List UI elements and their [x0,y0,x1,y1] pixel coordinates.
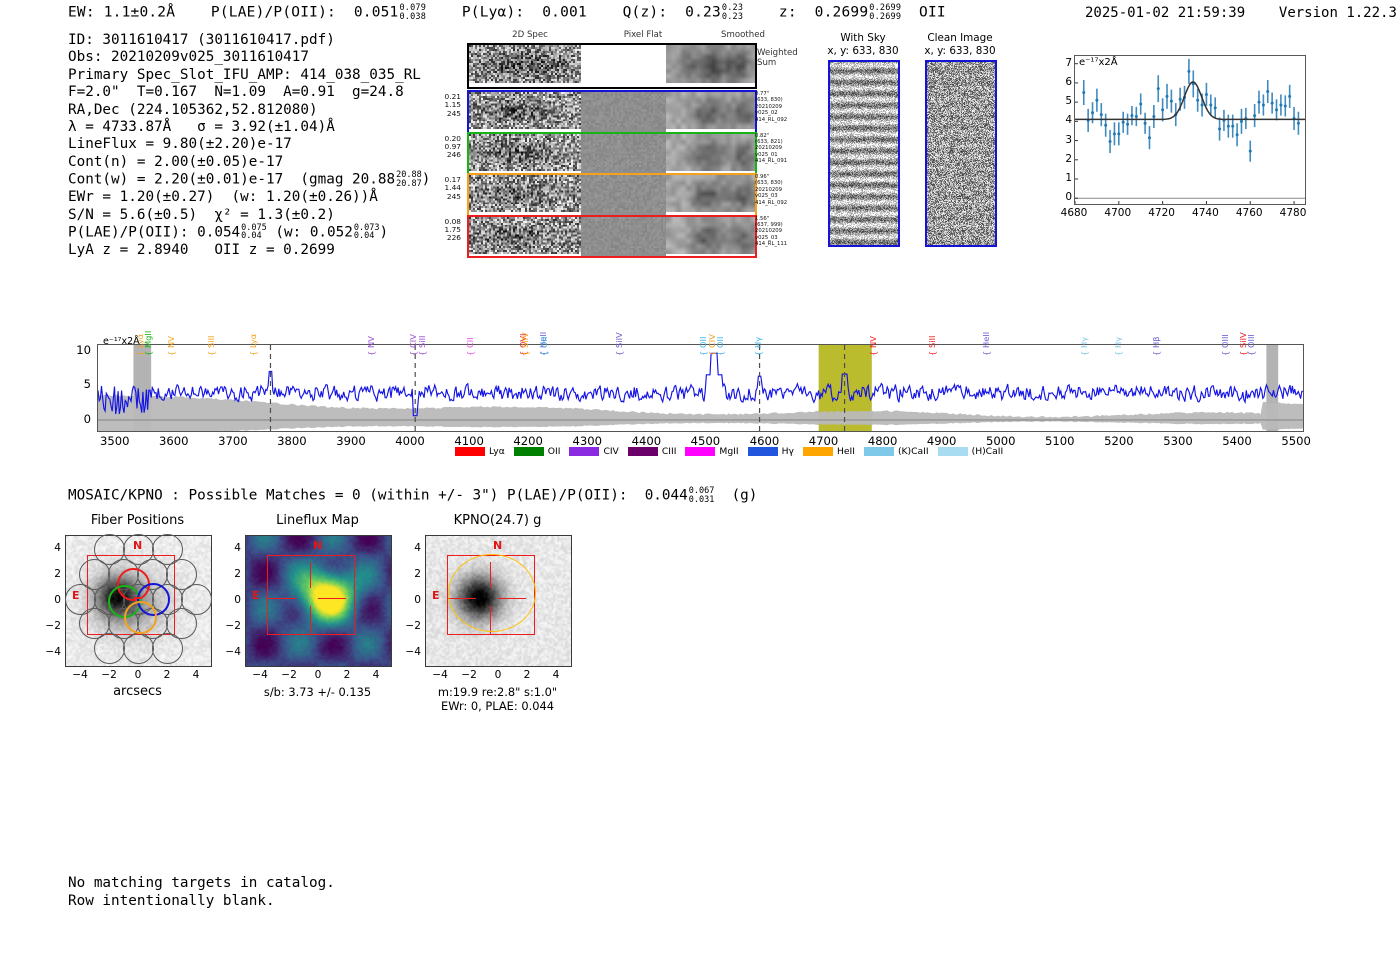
fiber-right-meta-3: 1.56"(637, 999)20210209v025_03414_RL_111 [755,216,787,248]
crosshair-arm [310,606,311,634]
mosaic-plae-range: 0.0670.031 [689,487,715,504]
legend-swatch [938,447,968,456]
timestamp: 2025-01-02 21:59:39 [1085,5,1245,21]
kpno-ellipse [448,554,536,632]
spectrum-line-brace: { [1151,351,1161,356]
spectrum-annotation: e⁻¹⁷x2Å [103,336,140,347]
legend-item-(H)CaII: (H)CaII [938,446,1004,457]
line-fit-plot-area: e⁻¹⁷x2Å [1074,55,1306,205]
cutout-image-clean [925,60,997,247]
aperture-ytick: 2 [401,568,421,580]
linefit-ytick: 4 [1065,114,1072,126]
spectrum-line-label-NV: NV [868,336,878,348]
fiber-2d-spec-3 [469,217,581,257]
aperture-xtick: −2 [461,669,477,681]
compass-east-2: E [432,589,440,602]
aperture-caption2-2: EWr: 0, PLAE: 0.044 [390,699,605,713]
weighted-sum-strip [467,43,757,89]
linefit-xtick: 4700 [1104,207,1131,219]
mosaic-plae-band: (g) [732,488,758,504]
legend-item-OII: OII [514,446,561,457]
legend-item-MgII: MgII [685,446,738,457]
fiber-circle [94,633,125,664]
header-z-label: z: [779,5,797,21]
info-params: F=2.0" T=0.167 N=1.09 A=0.91 g=24.8 [68,84,430,101]
legend-swatch [628,447,658,456]
legend-item-CIV: CIV [569,446,618,457]
legend-swatch [864,447,894,456]
spectrum-plot-area [97,344,1304,432]
fiber-right-meta-0: 0.77"(633, 830)20210209v025_02414_RL_092 [755,91,787,123]
spectrum-line-brace: { [1113,351,1123,356]
aperture-ytick: 4 [41,542,61,554]
legend-label: Hγ [782,446,794,457]
fiber-2d-spec-1 [469,134,581,174]
legend-swatch [748,447,778,456]
linefit-ytick: 0 [1065,191,1072,203]
spectrum-line-label-SiII: SiII [206,336,216,348]
spectrum-legend: LyαOIICIVCIIIMgIIHγHeII(K)CaII(H)CaII [455,446,1003,457]
footer-line-1: No matching targets in catalog. [68,874,335,892]
line-fit-chart: e⁻¹⁷x2Å 01234567468047004720474047604780 [1032,47,1320,237]
fiber-2d-spec-2 [469,175,581,215]
spectrum-line-brace: { [539,351,549,356]
target-marker [134,597,141,599]
header-summary: EW: 1.1±0.2Å P(LAE)/P(OII): 0.0510.0790.… [68,4,946,21]
info-radec: RA,Dec (224.105362,52.812080) [68,102,430,119]
aperture-xtick: −4 [252,669,268,681]
weighted-smoothed [666,45,755,87]
mosaic-prefix: MOSAIC/KPNO : Possible Matches = 0 (with… [68,488,627,504]
aperture-ytick: 0 [221,594,241,606]
legend-label: MgII [719,446,738,457]
spectrum-ytick: 10 [67,343,91,357]
spectrum-xtick: 3900 [336,434,366,448]
spectrum-line-brace: { [753,351,763,356]
fiber-pixel-flat-1 [581,134,666,174]
aperture-xtick: 4 [373,669,380,681]
legend-label: Lyα [489,446,505,457]
aperture-xlabel-0: arcsecs [40,685,235,699]
linefit-ytick: 6 [1065,76,1072,88]
fiber-pixel-flat-2 [581,175,666,215]
spectrum-line-label-OII: OII [715,337,725,348]
legend-swatch [514,447,544,456]
fiber-strip-2 [467,173,757,217]
spectrum-line-brace: { [981,351,991,356]
spectrum-line-label-NV: NV [366,336,376,348]
legend-label: OII [548,446,561,457]
spectrum-line-label-SiII: SiII [417,336,427,348]
spectrum-line-label-OIII: OIII [1246,334,1256,348]
header-z-type: OII [919,5,946,21]
spec-col-title-0: 2D Spec [512,30,548,40]
aperture-xtick: −4 [432,669,448,681]
spectrum-line-brace: { [614,351,624,356]
aperture-ytick: 2 [41,568,61,580]
legend-label: (K)CaII [898,446,929,457]
fiber-left-stats-0: 0.211.15245 [425,93,461,118]
footer-note: No matching targets in catalog. Row inte… [68,874,335,910]
aperture-ytick: 0 [41,594,61,606]
aperture-xtick: 2 [164,669,171,681]
spectrum-line-brace: { [1220,351,1230,356]
spec-col-title-1: Pixel Flat [624,30,663,40]
spectrum-line-label-SiIV: SiIV [520,332,530,348]
fiber-right-meta-1: 0.82"(633, 821)20210209v025_01414_RL_091 [755,133,787,165]
legend-item-CIII: CIII [628,446,677,457]
twod-spec-panel: 2D SpecPixel FlatSmoothedWeightedSum0.21… [425,30,795,260]
aperture-xtick: 2 [344,669,351,681]
mosaic-match-line: MOSAIC/KPNO : Possible Matches = 0 (with… [68,487,757,504]
info-redshifts: LyA z = 2.8940 OII z = 0.2699 [68,242,430,259]
aperture-ytick: −4 [221,646,241,658]
aperture-redbox-1 [267,555,355,635]
spectrum-xtick: 3600 [159,434,189,448]
aperture-xtick: −2 [281,669,297,681]
fiber-strip-0 [467,90,757,134]
header-meta: 2025-01-02 21:59:39 Version 1.22.3 [1085,5,1397,21]
spectrum-ytick: 5 [67,377,91,391]
header-plae-value: 0.051 [354,5,399,21]
aperture-title-2: KPNO(24.7) g [390,513,605,528]
fiber-pixel-flat-3 [581,217,666,257]
spectrum-line-label-NV: NV [166,336,176,348]
line-fit-annotation: e⁻¹⁷x2Å [1079,57,1118,68]
spectrum-line-brace: { [366,351,376,356]
spectrum-xtick: 3500 [100,434,130,448]
aperture-ytick: 4 [401,542,421,554]
fiber-smoothed-0 [666,92,755,132]
cutout-caption-1: Clean Imagex, y: 633, 830 [885,32,1035,57]
crosshair-arm [310,562,311,588]
info-slot: Primary Spec_Slot_IFU_AMP: 414_038_035_R… [68,67,430,84]
spectrum-line-brace: { [248,351,258,356]
linefit-ytick: 1 [1065,172,1072,184]
spectrum-xtick: 3800 [277,434,307,448]
linefit-ytick: 3 [1065,134,1072,146]
linefit-xtick: 4780 [1280,207,1307,219]
spec-col-title-2: Smoothed [721,30,765,40]
spectrum-xtick: 5300 [1163,434,1193,448]
spectrum-line-brace: { [1079,351,1089,356]
spectrum-line-brace: { [206,351,216,356]
legend-swatch [803,447,833,456]
spectrum-line-label-Lyα: Lyα [248,334,258,348]
legend-item-HeII: HeII [803,446,855,457]
linefit-ytick: 2 [1065,153,1072,165]
weighted-2d-spec [469,45,581,87]
fiber-circle [123,633,154,664]
aperture-xtick: −2 [101,669,117,681]
spectrum-line-brace: { [715,351,725,356]
spectrum-line-label-SiIV: SiIV [614,332,624,348]
fiber-circle [152,633,183,664]
linefit-ytick: 7 [1065,57,1072,69]
fiber-right-meta-2: 0.96"(633, 830)20210209v025_03414_RL_092 [755,174,787,206]
fiber-left-stats-3: 0.081.75226 [425,218,461,243]
fiber-2d-spec-0 [469,92,581,132]
legend-swatch [455,447,485,456]
fiber-pixel-flat-0 [581,92,666,132]
info-cont-n: Cont(n) = 2.00(±0.05)e-17 [68,154,430,171]
spectrum-line-label-SiII: SiII [927,336,937,348]
fiber-smoothed-2 [666,175,755,215]
header-qz-value: 0.23 [685,5,721,21]
spectrum-line-label-Hγ: Hγ [753,337,763,348]
spectrum-line-brace: { [520,351,530,356]
info-plae: P(LAE)/P(OII): 0.0540.0750.04 (w: 0.0520… [68,224,430,242]
header-plae-range: 0.0790.038 [399,4,426,21]
legend-label: CIV [603,446,618,457]
cutout-coords-1: x, y: 633, 830 [885,45,1035,58]
linefit-xtick: 4720 [1148,207,1175,219]
linefit-xtick: 4760 [1236,207,1263,219]
aperture-ytick: 4 [221,542,241,554]
cutout-image-with-sky [828,60,900,247]
header-qz-label: Q(z): [623,5,668,21]
fiber-strip-1 [467,132,757,176]
crosshair-arm [268,598,296,599]
spectrum-xtick: 5400 [1222,434,1252,448]
spectrum-line-label-OII: OII [539,337,549,348]
compass-north-1: N [313,539,322,552]
line-fit-svg [1075,56,1305,204]
spectrum-line-label-Hγ: Hγ [1113,337,1123,348]
cutout-title-1: Clean Image [885,32,1035,45]
crosshair-arm [318,598,346,599]
spectrum-xtick: 4000 [395,434,425,448]
legend-swatch [569,447,599,456]
fiber-circle-highlight-3 [124,601,157,634]
info-lineflux: LineFlux = 9.80(±2.20)e-17 [68,136,430,153]
spectrum-line-label-HeII: HeII [981,332,991,348]
legend-label: (H)CaII [972,446,1004,457]
aperture-caption1-2: m:19.9 re:2.8" s:1.0" [390,685,605,699]
header-qz-range: 0.230.23 [722,4,743,21]
legend-item-Hγ: Hγ [748,446,794,457]
legend-label: CIII [662,446,677,457]
info-ewr: EWr = 1.20(±0.27) (w: 1.20(±0.26))Å [68,189,430,206]
spectrum-line-label-Hβ: Hβ [1151,336,1161,348]
legend-item-Lyα: Lyα [455,446,505,457]
spectrum-line-brace: { [417,351,427,356]
aperture-ytick: 2 [221,568,241,580]
aperture-xtick: −4 [72,669,88,681]
spectrum-ytick: 0 [67,412,91,426]
spectrum-line-label-MgII: MgII [143,331,153,348]
full-spectrum-chart: e⁻¹⁷x2Å 05103500360037003800390040004100… [97,280,1302,470]
aperture-xtick: 0 [495,669,502,681]
compass-north-2: N [493,539,502,552]
header-plae-label: P(LAE)/P(OII): [211,5,336,21]
aperture-xtick: 0 [315,669,322,681]
compass-east-1: E [252,589,260,602]
spectrum-xtick: 5100 [1045,434,1075,448]
header-plya-label: P(Lyα): [462,5,525,21]
linefit-xtick: 4680 [1061,207,1088,219]
spectrum-line-brace: { [166,351,176,356]
legend-label: HeII [837,446,855,457]
aperture-ytick: 0 [401,594,421,606]
aperture-ytick: −4 [41,646,61,658]
spectrum-line-brace: { [143,351,153,356]
linefit-ytick: 5 [1065,95,1072,107]
aperture-ytick: −2 [401,620,421,632]
spectrum-line-brace: { [868,351,878,356]
legend-item-(K)CaII: (K)CaII [864,446,929,457]
spectrum-line-label-OIII: OIII [1220,334,1230,348]
info-cont-w: Cont(w) = 2.20(±0.01)e-17 (gmag 20.8820.… [68,171,430,189]
spectrum-line-brace: { [927,351,937,356]
weighted-pixel-flat [581,45,666,87]
spectrum-line-brace: { [465,351,475,356]
aperture-ytick: −2 [41,620,61,632]
header-ew: EW: 1.1±0.2Å [68,5,175,21]
footer-line-2: Row intentionally blank. [68,892,335,910]
fiber-smoothed-1 [666,134,755,174]
aperture-ytick: −2 [221,620,241,632]
header-z-value: 0.2699 [815,5,869,21]
header-plya-value: 0.001 [542,5,587,21]
aperture-xtick: 4 [193,669,200,681]
info-lambda: λ = 4733.87Å σ = 3.92(±1.04)Å [68,119,430,136]
aperture-xtick: 2 [524,669,531,681]
detection-info-block: ID: 3011610417 (3011610417.pdf) Obs: 202… [68,32,430,259]
spectrum-line-brace: { [1246,351,1256,356]
header-z-range: 0.26990.2699 [869,4,901,21]
fiber-smoothed-3 [666,217,755,257]
info-id: ID: 3011610417 (3011610417.pdf) [68,32,430,49]
fiber-left-stats-1: 0.200.97246 [425,135,461,160]
legend-swatch [685,447,715,456]
linefit-xtick: 4740 [1192,207,1219,219]
spectrum-xtick: 5200 [1104,434,1134,448]
spectrum-line-label-Hγ: Hγ [1079,337,1089,348]
version-label: Version 1.22.3 [1279,5,1397,21]
aperture-ytick: −4 [401,646,421,658]
fiber-strip-3 [467,215,757,259]
spectrum-line-label-CII: CII [465,337,475,348]
spectrum-svg [98,345,1303,431]
mosaic-plae-value: 0.044 [645,488,688,504]
info-obs: Obs: 20210209v025_3011610417 [68,49,430,66]
info-sn-chi2: S/N = 5.6(±0.5) χ² = 1.3(±0.2) [68,207,430,224]
spectrum-xtick: 5500 [1281,434,1311,448]
spectrum-xtick: 3700 [218,434,248,448]
aperture-xtick: 0 [135,669,142,681]
aperture-xtick: 4 [553,669,560,681]
fiber-left-stats-2: 0.171.44245 [425,176,461,201]
